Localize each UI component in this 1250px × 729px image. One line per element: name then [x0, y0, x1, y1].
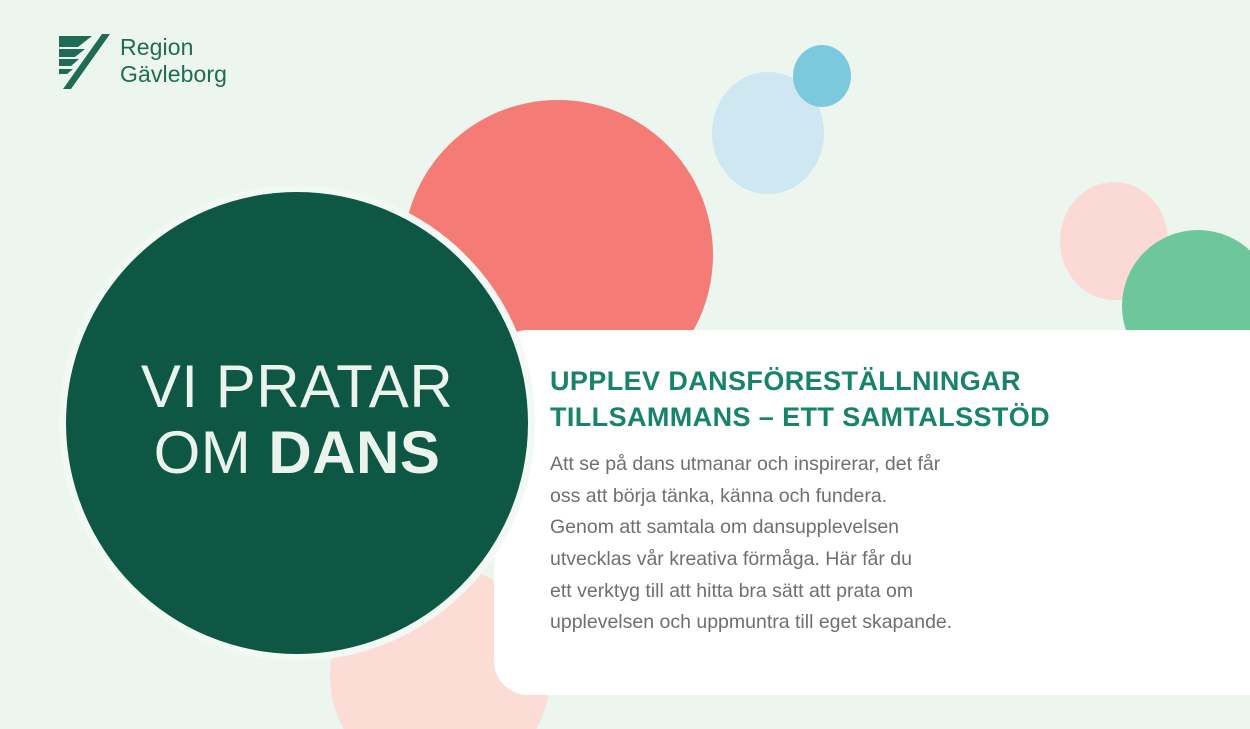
logo-wordmark-line-1: Region — [120, 34, 227, 61]
pale-blue-circle-decoration — [712, 72, 824, 194]
poster-canvas: UPPLEV DANSFÖRESTÄLLNINGAR TILLSAMMANS –… — [0, 0, 1250, 729]
card-heading-line: TILLSAMMANS – ETT SAMTALSSTÖD — [550, 400, 1194, 436]
card-body-line: ett verktyg till att hitta bra sätt att … — [550, 576, 1194, 608]
title-badge-line-2-bold: DANS — [268, 419, 440, 486]
logo-wordmark-line-2: Gävleborg — [120, 61, 227, 88]
content-card: UPPLEV DANSFÖRESTÄLLNINGAR TILLSAMMANS –… — [494, 330, 1250, 695]
pale-pink-circle-decoration-right — [1060, 182, 1168, 300]
title-badge-line-1: VI PRATAR — [141, 356, 453, 418]
card-heading: UPPLEV DANSFÖRESTÄLLNINGAR TILLSAMMANS –… — [550, 364, 1194, 435]
card-body-text: Att se på dans utmanar och inspirerar, d… — [550, 449, 1194, 638]
card-body-line: Att se på dans utmanar och inspirerar, d… — [550, 449, 1194, 481]
title-badge-line-2: OM DANS — [141, 422, 453, 484]
card-body-line: oss att börja tänka, känna och fundera. — [550, 481, 1194, 513]
title-badge-text: VI PRATAR OM DANS — [141, 356, 453, 491]
card-body-line: utvecklas vår kreativa förmåga. Här får … — [550, 544, 1194, 576]
region-gavleborg-logo[interactable]: Region Gävleborg — [58, 33, 227, 89]
region-gavleborg-logo-mark-icon — [58, 33, 110, 89]
turquoise-dot-decoration — [793, 45, 851, 107]
title-badge-line-2-light: OM — [154, 419, 269, 486]
card-body-line: upplevelsen och uppmuntra till eget skap… — [550, 607, 1194, 639]
logo-wordmark: Region Gävleborg — [120, 34, 227, 87]
card-heading-line: UPPLEV DANSFÖRESTÄLLNINGAR — [550, 364, 1194, 400]
title-badge-circle: VI PRATAR OM DANS — [66, 192, 528, 654]
content-card-inner: UPPLEV DANSFÖRESTÄLLNINGAR TILLSAMMANS –… — [550, 364, 1194, 639]
card-body-line: Genom att samtala om dansupplevelsen — [550, 512, 1194, 544]
